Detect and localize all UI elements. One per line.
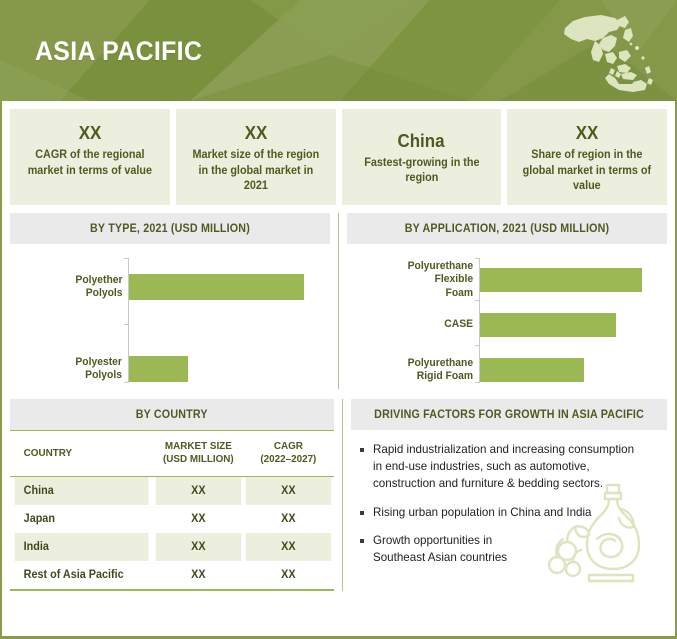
country-band-title: BY COUNTRY [136, 409, 208, 421]
drivers-title-band: DRIVING FACTORS FOR GROWTH IN ASIA PACIF… [351, 399, 667, 430]
cell-market-size: XX [155, 505, 240, 533]
bar-chart-by-application: Polyurethane Flexible Foam CASE Polyuret… [347, 244, 667, 389]
cell-market-size: XX [155, 533, 240, 561]
country-table: COUNTRY MARKET SIZE (USD MILLION) CAGR (… [10, 430, 334, 590]
kpi-card-row: XX CAGR of the regional market in terms … [2, 101, 675, 205]
kpi-label: Fastest-growing in the region [354, 156, 489, 188]
kpi-value: XX [79, 123, 102, 144]
bar-fill [480, 313, 616, 337]
kpi-card-share: XX Share of region in the global market … [507, 109, 667, 205]
table-row: China XX XX [10, 476, 334, 505]
bar-label: CASE [445, 318, 480, 332]
cell-country: Rest of Asia Pacific [14, 561, 148, 590]
column-header-cagr: CAGR (2022–2027) [246, 431, 331, 476]
bar-label: Polyurethane Flexible Foam [408, 260, 480, 301]
table-header-row: COUNTRY MARKET SIZE (USD MILLION) CAGR (… [10, 431, 334, 476]
cell-cagr: XX [246, 561, 331, 590]
bar-chart-by-type: Polyether Polyols Polyester Polyols [10, 244, 330, 389]
axis-tick [124, 324, 128, 325]
bar-label: Polyether Polyols [75, 274, 129, 302]
list-item: Growth opportunities in Southeast Asian … [359, 533, 661, 567]
asia-pacific-map-icon [559, 8, 659, 92]
bar-polyurethane-rigid-foam: Polyurethane Rigid Foam [480, 358, 584, 382]
drivers-panel: DRIVING FACTORS FOR GROWTH IN ASIA PACIF… [342, 399, 667, 590]
table-row: India XX XX [10, 533, 334, 561]
bar-polyester-polyols: Polyester Polyols [129, 356, 188, 382]
kpi-value: XX [576, 123, 599, 144]
country-panel: BY COUNTRY COUNTRY MARKET SIZE (USD MILL… [10, 399, 342, 590]
kpi-label: Share of region in the global market in … [520, 148, 655, 196]
kpi-value: China [398, 131, 445, 152]
drivers-band-title: DRIVING FACTORS FOR GROWTH IN ASIA PACIF… [374, 409, 644, 421]
chart-panel-by-application: BY APPLICATION, 2021 (USD MILLION) Polyu… [338, 213, 667, 389]
country-title-band: BY COUNTRY [10, 399, 334, 430]
kpi-card-cagr: XX CAGR of the regional market in terms … [10, 109, 170, 205]
bars-container: Polyurethane Flexible Foam CASE Polyuret… [347, 252, 667, 389]
table-row: Rest of Asia Pacific XX XX [10, 561, 334, 590]
table-row: Japan XX XX [10, 505, 334, 533]
bar-fill [480, 358, 584, 382]
kpi-card-fastest-growing: China Fastest-growing in the region [342, 109, 502, 205]
bottom-row: BY COUNTRY COUNTRY MARKET SIZE (USD MILL… [2, 389, 675, 590]
chart-title-band: BY TYPE, 2021 (USD MILLION) [10, 213, 330, 244]
bar-fill [129, 274, 304, 300]
infographic-page: ASIA PACIFIC XX CAGR of the regional mar… [0, 0, 677, 639]
list-item: Rapid industrialization and increasing c… [359, 442, 661, 492]
chart-title-band: BY APPLICATION, 2021 (USD MILLION) [347, 213, 667, 244]
kpi-label: CAGR of the regional market in terms of … [22, 148, 157, 180]
list-item: Rising urban population in China and Ind… [359, 505, 661, 522]
cell-cagr: XX [246, 505, 331, 533]
cell-market-size: XX [155, 561, 240, 590]
axis-tick [475, 345, 479, 346]
cell-country: China [14, 476, 148, 505]
bar-fill [480, 268, 642, 292]
chart-title: BY TYPE, 2021 (USD MILLION) [90, 223, 250, 235]
kpi-value: XX [244, 123, 267, 144]
bar-label: Polyester Polyols [76, 356, 129, 384]
bars-container: Polyether Polyols Polyester Polyols [10, 252, 330, 389]
bar-fill [129, 356, 188, 382]
bar-case: CASE [480, 313, 616, 337]
kpi-card-market-size: XX Market size of the region in the glob… [176, 109, 336, 205]
cell-cagr: XX [246, 476, 331, 505]
kpi-label: Market size of the region in the global … [188, 148, 323, 196]
cell-cagr: XX [246, 533, 331, 561]
column-header-country: COUNTRY [14, 431, 148, 476]
driving-factors-list: Rapid industrialization and increasing c… [351, 430, 667, 567]
chart-title: BY APPLICATION, 2021 (USD MILLION) [405, 223, 610, 235]
page-header: ASIA PACIFIC [0, 0, 677, 101]
bar-label: Polyurethane Rigid Foam [408, 357, 480, 385]
cell-country: Japan [14, 505, 148, 533]
charts-row: BY TYPE, 2021 (USD MILLION) Polyether Po… [2, 205, 675, 389]
page-title: ASIA PACIFIC [35, 36, 202, 67]
cell-country: India [14, 533, 148, 561]
column-header-market-size: MARKET SIZE (USD MILLION) [155, 431, 240, 476]
chart-panel-by-type: BY TYPE, 2021 (USD MILLION) Polyether Po… [10, 213, 338, 389]
bar-polyether-polyols: Polyether Polyols [129, 274, 304, 300]
bar-polyurethane-flexible-foam: Polyurethane Flexible Foam [480, 268, 642, 292]
cell-market-size: XX [155, 476, 240, 505]
